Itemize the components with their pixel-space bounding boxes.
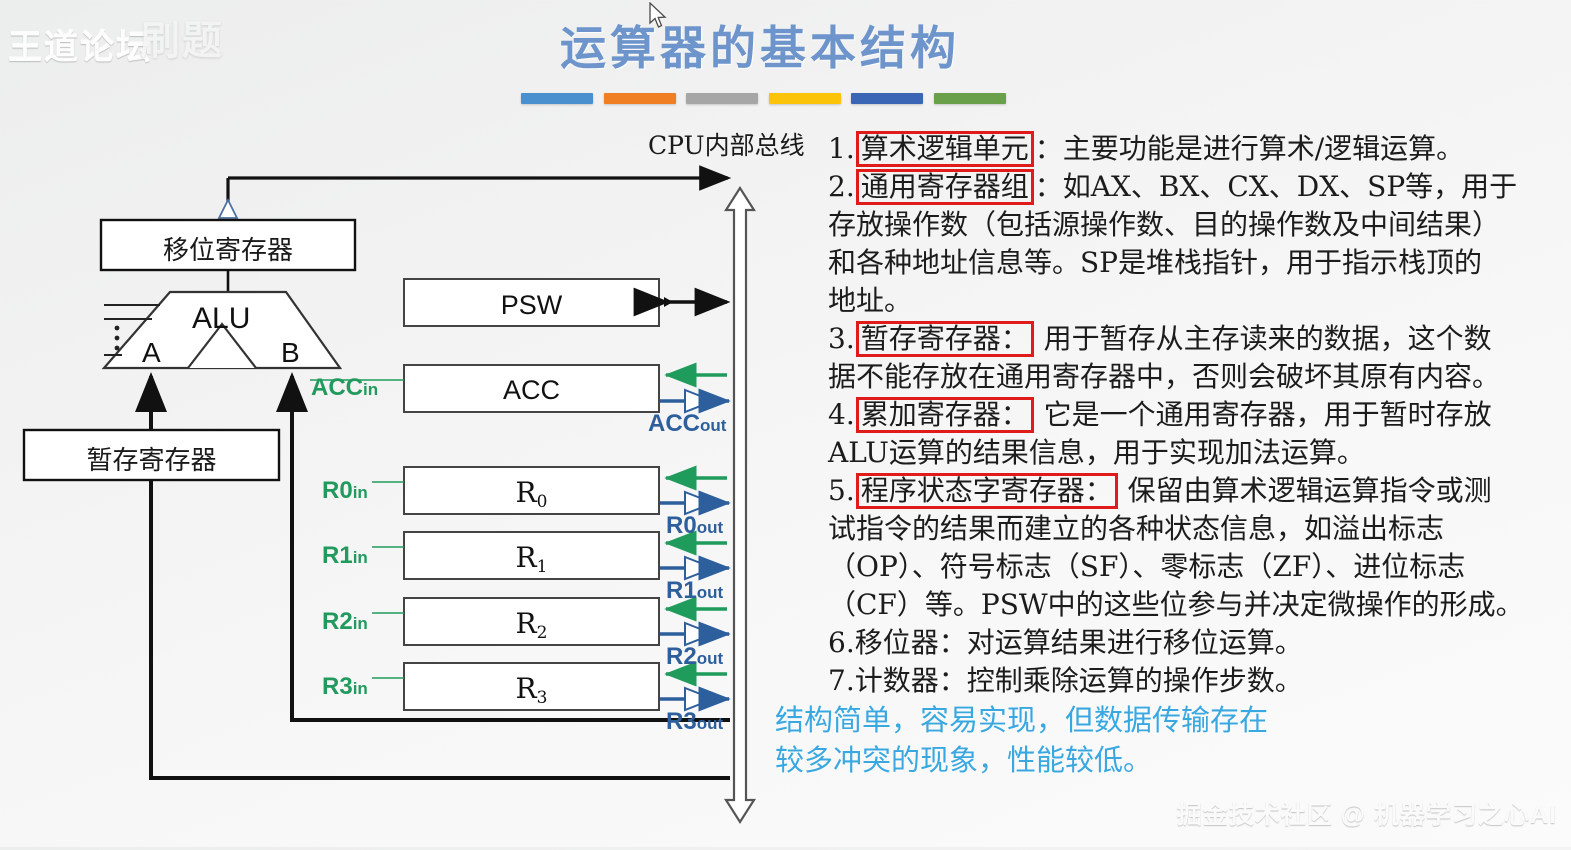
register-out-label-r3: R3out [666,708,723,736]
line-text: 保留由算术逻辑运算指令或测 [1119,474,1492,507]
register-out-label-acc: ACCout [648,410,726,438]
bar-blue [521,93,593,104]
watermark-bottom: 掘金技术社区 @ 机器学习之心AI [1177,795,1557,831]
summary-note: 结构简单，容易实现，但数据传输存在 较多冲突的现象，性能较低。 [775,700,1395,780]
register-label-r0: R0 [404,476,659,512]
list-number: 4. [828,396,855,434]
watermark-left: 王道论坛 [8,20,152,69]
explanation-line-3: 存放操作数（包括源操作数、目的操作数及中间结果） [828,206,1568,244]
explanation-line-7: 据不能存放在通用寄存器中，否则会破坏其原有内容。 [828,358,1568,396]
explanation-line-9: ALU运算的结果信息，用于实现加法运算。 [828,434,1568,472]
list-number: 7. [828,662,855,700]
shift-register-to-bus-line [219,178,728,218]
highlighted-term: 算术逻辑单元 [856,131,1034,167]
summary-line-1: 结构简单，容易实现，但数据传输存在 [775,700,1395,740]
bar-orange [604,93,676,104]
line-text: ALU运算的结果信息，用于实现加法运算。 [828,436,1365,469]
explanation-line-15: 7.计数器：控制乘除运算的操作步数。 [828,662,1568,700]
highlighted-term: 暂存寄存器： [856,321,1034,357]
register-in-label-r0: R0in [322,477,368,505]
line-text: ：主要功能是进行算术/逻辑运算。 [1035,132,1464,165]
alu-label: ALU [192,302,250,336]
bar-yellow [769,93,841,104]
register-label-r1: R1 [404,541,659,577]
list-number: 1. [828,130,855,168]
list-number: 6. [828,624,855,662]
explanation-line-13: （CF）等。PSW中的这些位参与并决定微操作的形成。 [828,586,1568,624]
line-text: 移位器：对运算结果进行移位运算。 [855,626,1303,659]
list-number: 2. [828,168,855,206]
bar-gray [686,93,758,104]
alu-input-b-label: B [281,337,300,369]
register-label-r2: R2 [404,607,659,643]
explanation-line-6: 3.暂存寄存器： 用于暂存从主存读来的数据，这个数 [828,320,1568,358]
cpu-internal-bus [726,188,754,822]
line-text: 和各种地址信息等。SP是堆栈指针，用于指示栈顶的 [828,246,1482,279]
shift-register-label: 移位寄存器 [115,230,341,267]
explanation-panel: 1.算术逻辑单元：主要功能是进行算术/逻辑运算。2.通用寄存器组：如AX、BX、… [828,130,1568,700]
line-text: 试指令的结果而建立的各种状态信息，如溢出标志 [828,512,1444,545]
alu-input-a-label: A [142,337,161,369]
register-in-label-r3: R3in [322,673,368,701]
watermark-left-secondary: 刷题 [140,8,224,66]
explanation-line-2: 2.通用寄存器组：如AX、BX、CX、DX、SP等，用于 [828,168,1568,206]
operator-structure-diagram: CPU内部总线 移位寄存器 ALU A B 暂存寄存器 PSW ACC ACCi… [0,110,800,850]
register-in-label-r2: R2in [322,608,368,636]
mouse-cursor-icon [648,2,668,30]
register-out-label-r0: R0out [666,512,723,540]
summary-line-2: 较多冲突的现象，性能较低。 [775,740,1395,780]
explanation-line-11: 试指令的结果而建立的各种状态信息，如溢出标志 [828,510,1568,548]
highlighted-term: 程序状态字寄存器： [856,473,1118,509]
explanation-line-8: 4.累加寄存器： 它是一个通用寄存器，用于暂时存放 [828,396,1568,434]
cpu-bus-label: CPU内部总线 [648,126,805,162]
explanation-line-4: 和各种地址信息等。SP是堆栈指针，用于指示栈顶的 [828,244,1568,282]
explanation-line-5: 地址。 [828,282,1568,320]
explanation-line-10: 5.程序状态字寄存器： 保留由算术逻辑运算指令或测 [828,472,1568,510]
register-in-label-r1: R1in [322,542,368,570]
line-text: （OP）、符号标志（SF）、零标志（ZF）、进位标志 [828,550,1465,583]
line-text: ：如AX、BX、CX、DX、SP等，用于 [1035,170,1517,203]
accent-bar-group [521,93,1006,104]
alu-control-ellipsis-icon [115,326,120,351]
line-text: 它是一个通用寄存器，用于暂时存放 [1035,398,1492,431]
line-text: 用于暂存从主存读来的数据，这个数 [1035,322,1492,355]
line-text: 存放操作数（包括源操作数、目的操作数及中间结果） [828,208,1500,241]
line-text: （CF）等。PSW中的这些位参与并决定微操作的形成。 [828,588,1524,621]
page-title: 运算器的基本结构 [520,12,1000,78]
explanation-line-1: 1.算术逻辑单元：主要功能是进行算术/逻辑运算。 [828,130,1568,168]
slide-canvas: 王道论坛 刷题 掘金技术社区 @ 机器学习之心AI 运算器的基本结构 [0,0,1571,847]
list-number: 3. [828,320,855,358]
bar-green [934,93,1006,104]
highlighted-term: 累加寄存器： [856,397,1034,433]
list-number: 5. [828,472,855,510]
explanation-line-14: 6.移位器：对运算结果进行移位运算。 [828,624,1568,662]
register-label-r3: R3 [404,672,659,708]
line-text: 计数器：控制乘除运算的操作步数。 [855,664,1303,697]
register-out-label-r2: R2out [666,643,723,671]
register-in-label-acc: ACCin [311,374,378,402]
bar-dark-blue [851,93,923,104]
temp-register-label: 暂存寄存器 [38,440,265,477]
register-out-label-r1: R1out [666,577,723,605]
psw-label: PSW [404,290,659,321]
register-label-acc: ACC [404,375,659,406]
line-text: 据不能存放在通用寄存器中，否则会破坏其原有内容。 [828,360,1500,393]
highlighted-term: 通用寄存器组 [856,169,1034,205]
explanation-line-12: （OP）、符号标志（SF）、零标志（ZF）、进位标志 [828,548,1568,586]
line-text: 地址。 [828,284,912,317]
